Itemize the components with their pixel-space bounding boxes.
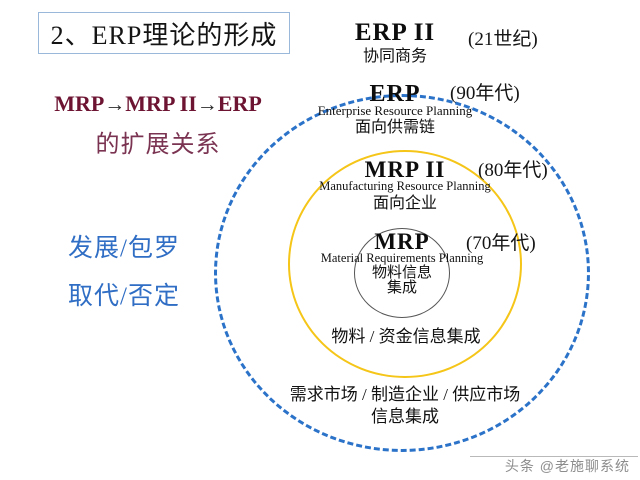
era-label-mrp: (70年代) xyxy=(466,228,536,255)
ring-chinese-mrp2: 面向企业 xyxy=(305,195,505,213)
scope-caption-outer-line2: 信息集成 xyxy=(250,406,560,428)
slide-canvas: 2、ERP理论的形成 MRP→MRP II→ERP 的扩展关系 发展/包罗 取代… xyxy=(0,0,640,480)
evolution-chain-subtitle: 的扩展关系 xyxy=(18,124,298,159)
relation-label-inclusive: 发展/包罗 xyxy=(68,228,180,264)
watermark-label: 头条 @老施聊系统 xyxy=(505,456,630,476)
page-title-box: 2、ERP理论的形成 xyxy=(38,12,290,54)
era-label-erp2: (21世纪) xyxy=(468,24,538,51)
relation-label-replacing: 取代/否定 xyxy=(68,276,180,312)
ring-title-erp2: ERP II xyxy=(310,20,480,46)
era-label-mrp2: (80年代) xyxy=(478,155,548,182)
ring-english-erp: Enterprise Resource Planning xyxy=(295,104,495,118)
ring-english-mrp2: Manufacturing Resource Planning xyxy=(305,180,505,194)
ring-chinese-erp2: 协同商务 xyxy=(310,48,480,66)
chain-mrp-label: MRP xyxy=(54,91,104,116)
era-label-erp: (90年代) xyxy=(450,78,520,105)
evolution-chain-heading: MRP→MRP II→ERP xyxy=(18,92,298,115)
ring-chinese-mrp-line1: 物料信息 xyxy=(302,266,502,281)
scope-caption-outer-line1: 需求市场 / 制造企业 / 供应市场 xyxy=(250,384,560,406)
ring-chinese-erp: 面向供需链 xyxy=(295,119,495,137)
ring-label-erp2: ERP II 协同商务 xyxy=(310,20,480,67)
chain-arrow-1-icon: → xyxy=(104,92,125,116)
scope-caption-outer: 需求市场 / 制造企业 / 供应市场 信息集成 xyxy=(250,384,560,428)
ring-chinese-mrp-line2: 集成 xyxy=(302,281,502,296)
scope-caption-middle: 物料 / 资金信息集成 xyxy=(300,322,512,347)
page-title: 2、ERP理论的形成 xyxy=(51,15,278,52)
chain-arrow-2-icon: → xyxy=(197,92,218,116)
ring-label-mrp2: MRP II Manufacturing Resource Planning 面… xyxy=(305,158,505,213)
chain-erp-label: ERP xyxy=(218,91,262,116)
chain-mrp2-label: MRP II xyxy=(125,91,197,116)
